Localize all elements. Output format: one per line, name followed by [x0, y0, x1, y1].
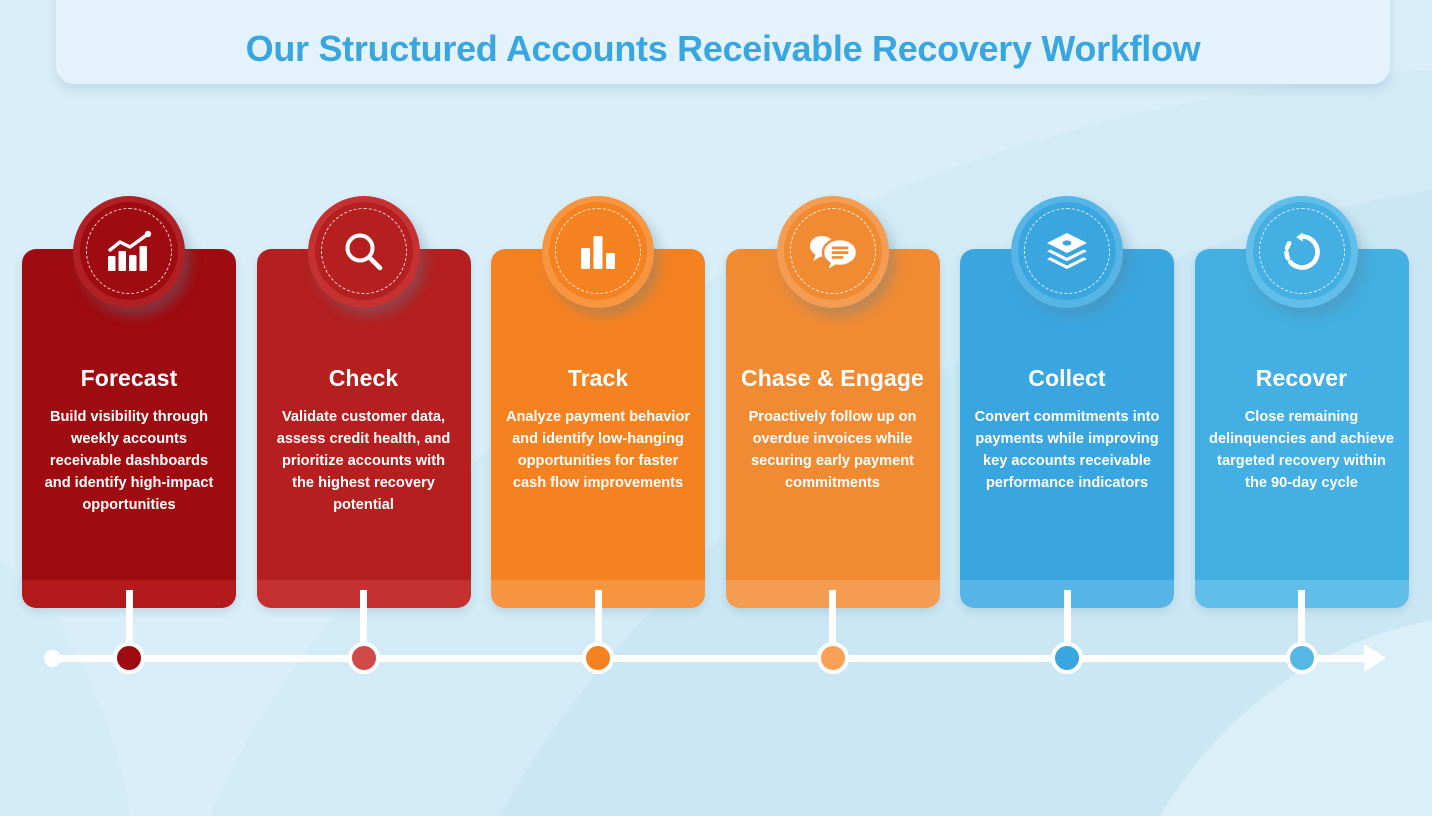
step-title: Collect [968, 365, 1166, 392]
timeline-node[interactable] [1282, 600, 1322, 710]
workflow-step-card[interactable]: Recover Close remaining delinquencies an… [1195, 196, 1409, 608]
step-description: Analyze payment behavior and identify lo… [499, 406, 697, 494]
bar-chart-trend-icon [73, 196, 185, 308]
timeline-connector-stem [1064, 590, 1071, 645]
step-card-text: Recover Close remaining delinquencies an… [1203, 365, 1401, 494]
timeline-connector-stem [595, 590, 602, 645]
refresh-cycle-icon [1246, 196, 1358, 308]
step-title: Recover [1203, 365, 1401, 392]
step-card-text: Check Validate customer data, assess cre… [265, 365, 463, 516]
step-title: Track [499, 365, 697, 392]
workflow-step-card[interactable]: Track Analyze payment behavior and ident… [491, 196, 705, 608]
timeline-dot[interactable] [1286, 642, 1318, 674]
timeline-node[interactable] [813, 600, 853, 710]
timeline-line [48, 655, 1368, 662]
timeline-arrow-icon [1364, 644, 1386, 672]
step-icon-badge[interactable] [308, 196, 420, 308]
step-title: Forecast [30, 365, 228, 392]
workflow-step-card[interactable]: Check Validate customer data, assess cre… [257, 196, 471, 608]
step-card-text: Track Analyze payment behavior and ident… [499, 365, 697, 494]
step-icon-badge[interactable] [73, 196, 185, 308]
timeline-dot[interactable] [817, 642, 849, 674]
step-description: Proactively follow up on overdue invoice… [734, 406, 932, 494]
step-card-text: Collect Convert commitments into payment… [968, 365, 1166, 494]
timeline-dot[interactable] [1051, 642, 1083, 674]
timeline-dot[interactable] [348, 642, 380, 674]
search-icon [308, 196, 420, 308]
step-icon-badge[interactable] [777, 196, 889, 308]
timeline-dot[interactable] [113, 642, 145, 674]
step-title: Chase & Engage [734, 365, 932, 392]
workflow-steps: Forecast Build visibility through weekly… [0, 196, 1432, 608]
step-icon-badge[interactable] [1246, 196, 1358, 308]
timeline-node[interactable] [1047, 600, 1087, 710]
step-title: Check [265, 365, 463, 392]
timeline-connector-stem [1298, 590, 1305, 645]
step-description: Convert commitments into payments while … [968, 406, 1166, 494]
page-title: Our Structured Accounts Receivable Recov… [56, 28, 1390, 70]
timeline-node[interactable] [344, 600, 384, 710]
timeline-node[interactable] [109, 600, 149, 710]
bar-chart-icon [542, 196, 654, 308]
workflow-step-card[interactable]: Chase & Engage Proactively follow up on … [726, 196, 940, 608]
timeline-connector-stem [829, 590, 836, 645]
step-description: Validate customer data, assess credit he… [265, 406, 463, 516]
workflow-step-card[interactable]: Forecast Build visibility through weekly… [22, 196, 236, 608]
step-icon-badge[interactable] [1011, 196, 1123, 308]
timeline-connector-stem [360, 590, 367, 645]
chat-bubbles-icon [777, 196, 889, 308]
step-description: Close remaining delinquencies and achiev… [1203, 406, 1401, 494]
header-panel: Our Structured Accounts Receivable Recov… [56, 0, 1390, 84]
layers-icon [1011, 196, 1123, 308]
step-icon-badge[interactable] [542, 196, 654, 308]
workflow-step-card[interactable]: Collect Convert commitments into payment… [960, 196, 1174, 608]
step-card-text: Chase & Engage Proactively follow up on … [734, 365, 932, 494]
step-description: Build visibility through weekly accounts… [30, 406, 228, 516]
timeline-node[interactable] [578, 600, 618, 710]
timeline-dot[interactable] [582, 642, 614, 674]
step-card-text: Forecast Build visibility through weekly… [30, 365, 228, 516]
workflow-timeline [0, 600, 1432, 710]
timeline-connector-stem [126, 590, 133, 645]
